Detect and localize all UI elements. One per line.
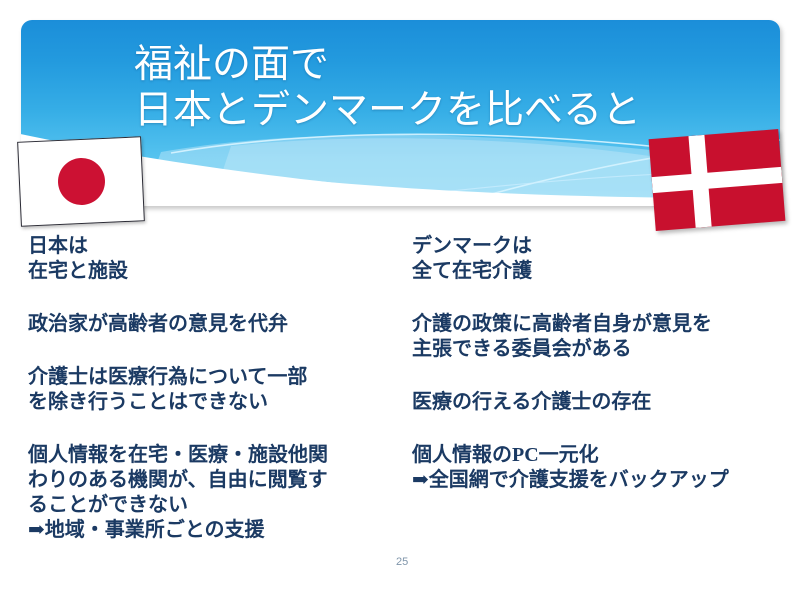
right-heading: デンマークは 全て在宅介護 — [412, 234, 790, 284]
right-conclusion: ➡全国網で介護支援をバックアップ — [412, 468, 790, 493]
left-point-1: 政治家が高齢者の意見を代弁 — [28, 312, 388, 337]
right-column-denmark: デンマークは 全て在宅介護 介護の政策に高齢者自身が意見を 主張できる委員会があ… — [412, 234, 790, 493]
page-number: 25 — [396, 556, 408, 568]
right-point-3: 個人情報のPC一元化 — [412, 443, 790, 468]
slide-canvas: 福祉の面で 日本とデンマークを比べると 日本は 在宅と施設 政治家が高齢者の意見… — [0, 0, 800, 600]
denmark-flag-icon — [649, 129, 786, 231]
japan-flag-disc — [56, 157, 105, 206]
right-point-2: 医療の行える介護士の存在 — [412, 390, 790, 415]
slide-title: 福祉の面で 日本とデンマークを比べると — [134, 42, 780, 134]
japan-flag-icon — [17, 136, 145, 227]
left-point-2: 介護士は医療行為について一部 を除き行うことはできない — [28, 365, 388, 415]
left-heading: 日本は 在宅と施設 — [28, 234, 388, 284]
right-point-1: 介護の政策に高齢者自身が意見を 主張できる委員会がある — [412, 312, 790, 362]
left-column-japan: 日本は 在宅と施設 政治家が高齢者の意見を代弁 介護士は医療行為について一部 を… — [28, 234, 388, 543]
denmark-flag-horizontal-bar — [652, 167, 783, 193]
left-point-3: 個人情報を在宅・医療・施設他関 わりのある機関が、自由に閲覧す ることができない — [28, 443, 388, 518]
left-conclusion: ➡地域・事業所ごとの支援 — [28, 518, 388, 543]
